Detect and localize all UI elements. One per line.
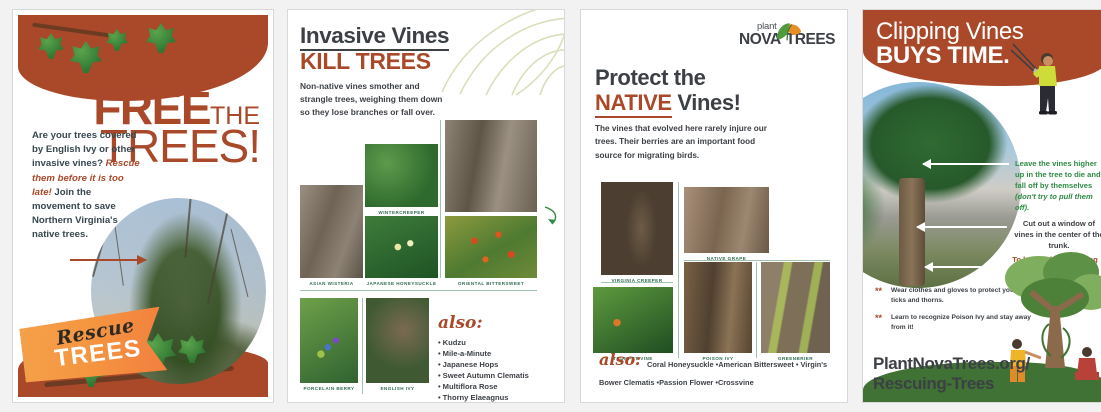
also-items: Kudzu Mile-a-Minute Japanese Hops Sweet … [438, 337, 529, 403]
heading-native-vines: NATIVE Vines! [595, 91, 835, 116]
photo-tree-with-vines [445, 120, 537, 212]
callout-leave-vines-text: Leave the vines higher up in the tree to… [1015, 159, 1101, 190]
divider-horizontal [300, 290, 537, 291]
photo-wintercreeper [365, 144, 438, 207]
person-clipping-vines-illustration [1009, 42, 1065, 116]
panel-protect-the-native-vines: plant NOVA TREES Protect the NATIVE Vine… [580, 9, 848, 403]
pointer-line-upper [923, 163, 1009, 165]
tree-trunk [899, 178, 925, 286]
callout-leave-vines-note: (don't try to pull them off). [1015, 192, 1093, 212]
logo-leaf-icon [775, 21, 803, 43]
caption-wintercreeper: WINTERCREEPER [365, 210, 438, 215]
photo-virginia-creeper [601, 182, 673, 275]
divider-vertical [678, 182, 679, 358]
divider-horizontal [684, 260, 830, 261]
photo-trumpet-vine [593, 287, 673, 353]
double-asterisk-icon: ** [875, 312, 882, 326]
divider-horizontal [601, 282, 673, 283]
heading-rest-vines: Vines! [672, 90, 741, 115]
plant-nova-trees-logo: plant NOVA TREES [739, 22, 835, 52]
pointer-arrow-icon [70, 259, 146, 261]
photo-porcelain-berry [300, 298, 358, 383]
url-line-2: Rescuing-Trees [873, 374, 1030, 394]
also-label: also: [438, 315, 529, 332]
divider-vertical [362, 298, 363, 394]
also-item: Thorny Elaeagnus [438, 392, 529, 403]
pointer-line-middle [917, 226, 1007, 228]
caption-japanese-honeysuckle: JAPANESE HONEYSUCKLE [365, 281, 438, 286]
also-item: Multiflora Rose [438, 381, 529, 392]
photo-native-grape [684, 187, 769, 253]
curved-arrow-icon [543, 206, 559, 226]
photo-japanese-honeysuckle [365, 216, 438, 278]
panel-invasive-vines-kill-trees: Invasive Vines KILL TREES Non-native vin… [287, 9, 565, 403]
photo-english-ivy [366, 298, 429, 383]
photo-asian-wisteria [300, 185, 363, 278]
caption-oriental-bittersweet: ORIENTAL BITTERSWEET [445, 281, 537, 286]
pointer-line-lower [925, 266, 1003, 268]
website-url[interactable]: PlantNovaTrees.org/ Rescuing-Trees [873, 354, 1030, 394]
double-asterisk-icon: ** [875, 285, 882, 299]
also-item: Sweet Autumn Clematis [438, 370, 529, 381]
panel-free-the-trees: FREETHE TREES! Are your trees covered by… [12, 9, 274, 403]
leaf-watermark-icon [420, 9, 565, 96]
brochure-sheet: FREETHE TREES! Are your trees covered by… [0, 0, 1101, 412]
body-paragraph: The vines that evolved here rarely injur… [595, 122, 775, 161]
heading-protect-the: Protect the [595, 66, 835, 91]
caption-english-ivy: ENGLISH IVY [366, 386, 429, 391]
callout-leave-vines: Leave the vines higher up in the tree to… [1015, 158, 1101, 213]
heading-buys-time: BUYS TIME. [876, 42, 1009, 70]
heading-accent-native: NATIVE [595, 90, 672, 118]
also-label: also: [599, 352, 641, 368]
also-item: Japanese Hops [438, 359, 529, 370]
divider-vertical [440, 120, 441, 278]
photo-oriental-bittersweet [445, 216, 537, 278]
divider-vertical [756, 262, 757, 358]
url-line-1: PlantNovaTrees.org/ [873, 354, 1030, 374]
also-list-block: also: Kudzu Mile-a-Minute Japanese Hops … [438, 315, 529, 403]
intro-paragraph: Are your trees covered by English Ivy or… [32, 129, 140, 243]
panel-clipping-vines-buys-time: Clipping Vines BUYS TIME. Leave the [862, 9, 1101, 403]
caption-asian-wisteria: ASIAN WISTERIA [300, 281, 363, 286]
callout-cut-window: Cut out a window of vines in the center … [1013, 218, 1101, 251]
photo-poison-ivy [684, 262, 752, 353]
caption-porcelain-berry: PORCELAIN BERRY [300, 386, 358, 391]
also-block: also: Coral Honeysuckle •American Bitter… [599, 354, 831, 390]
also-item: Mile-a-Minute [438, 348, 529, 359]
also-item: Kudzu [438, 337, 529, 348]
photo-greenbrier [761, 262, 830, 353]
